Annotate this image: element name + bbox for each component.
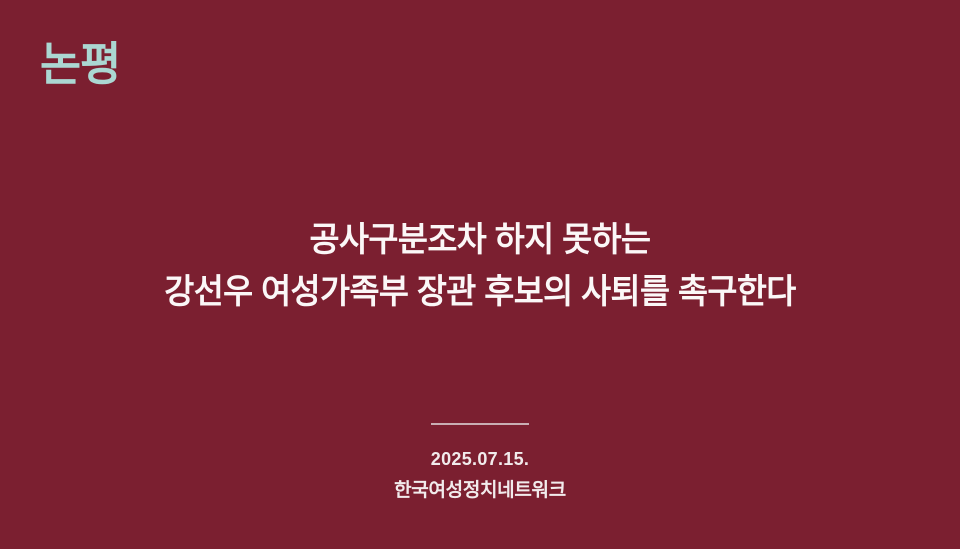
headline-block: 공사구분조차 하지 못하는 강선우 여성가족부 장관 후보의 사퇴를 촉구한다 — [0, 214, 960, 318]
commentary-logo: 논평 — [40, 38, 120, 90]
footer-block: 2025.07.15. 한국여성정치네트워크 — [0, 414, 960, 503]
headline-line-2: 강선우 여성가족부 장관 후보의 사퇴를 촉구한다 — [48, 266, 912, 318]
publish-date: 2025.07.15. — [0, 447, 960, 471]
headline-line-1: 공사구분조차 하지 못하는 — [48, 214, 912, 266]
commentary-card: 논평 공사구분조차 하지 못하는 강선우 여성가족부 장관 후보의 사퇴를 촉구… — [0, 0, 960, 549]
organization-name: 한국여성정치네트워크 — [0, 479, 960, 503]
footer-divider — [431, 423, 529, 425]
